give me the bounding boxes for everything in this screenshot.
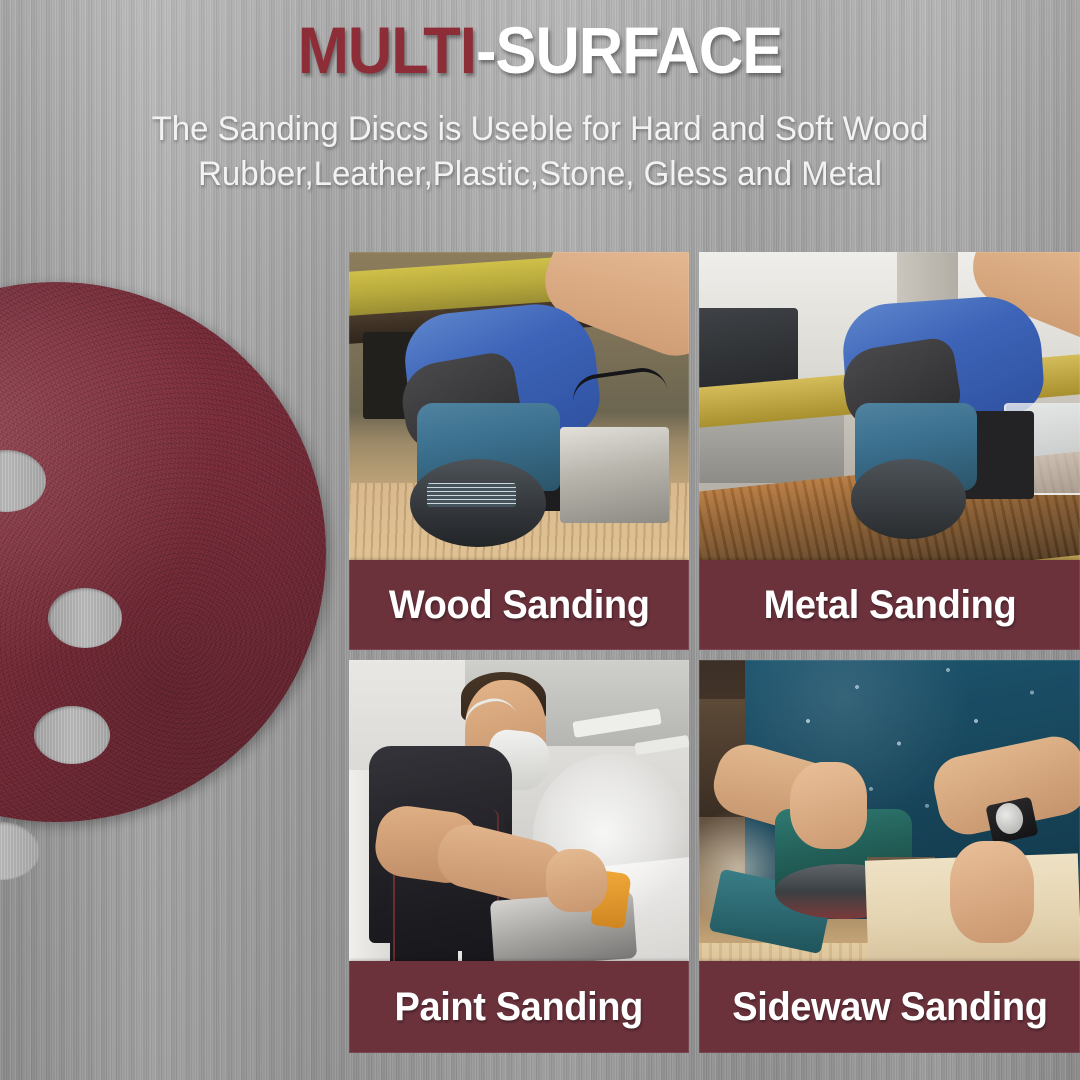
header: MULTI-SURFACE The Sanding Discs is Usebl… [0,0,1080,197]
title-accent-text: MULTI [298,13,476,87]
subtitle: The Sanding Discs is Useble for Hard and… [16,85,1064,197]
left-hand [790,762,866,848]
caption-label: Sidewaw Sanding [732,985,1047,1030]
title-main-text: -SURFACE [476,13,782,87]
caption-band-sideway: Sidewaw Sanding [699,961,1080,1053]
sanding-disc-image [0,282,326,822]
disc-hole [34,706,110,764]
panel-wood-sanding[interactable]: Wood Sanding [349,252,689,650]
panel-paint-sanding[interactable]: Paint Sanding [349,660,689,1053]
page-title: MULTI-SURFACE [38,0,1042,85]
caption-label: Wood Sanding [389,583,650,628]
product-infographic: MULTI-SURFACE The Sanding Discs is Usebl… [0,0,1080,1080]
dust-canister [560,427,669,523]
caption-band-wood: Wood Sanding [349,560,689,650]
subtitle-line-2: Rubber,Leather,Plastic,Stone, Gless and … [16,152,1064,197]
caption-label: Paint Sanding [395,985,643,1030]
disc-hole [48,588,122,648]
feature-grid: Wood Sanding [349,252,1080,1053]
disc-hole [0,822,40,880]
subtitle-line-1: The Sanding Discs is Useble for Hard and… [16,107,1064,152]
panel-sideway-sanding[interactable]: Sidewaw Sanding [699,660,1080,1053]
caption-band-metal: Metal Sanding [699,560,1080,650]
panel-metal-sanding[interactable]: Metal Sanding [699,252,1080,650]
caption-band-paint: Paint Sanding [349,961,689,1053]
right-hand [950,841,1034,943]
caption-label: Metal Sanding [763,583,1016,628]
